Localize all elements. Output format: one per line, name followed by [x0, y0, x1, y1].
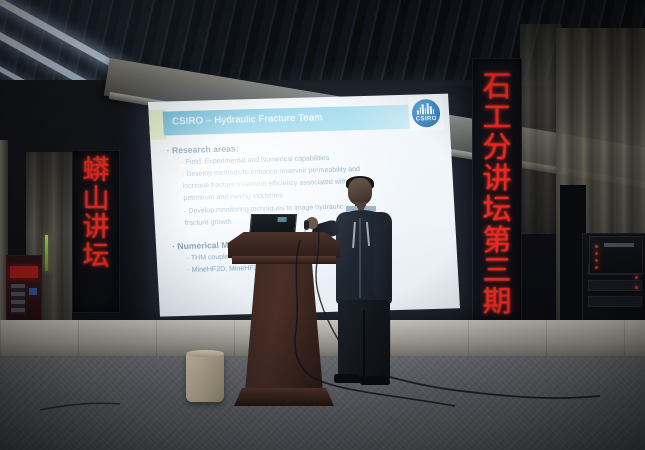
- banner-left-char-0: 蟒: [73, 157, 119, 186]
- podium-base: [234, 388, 334, 406]
- beige-hexagonal-stool: [186, 352, 224, 402]
- banner-right-char-5: 第: [473, 225, 521, 256]
- presenter-leg-seam: [363, 310, 365, 376]
- presenter-jacket-zipper: [359, 218, 361, 298]
- banner-right-char-2: 分: [473, 132, 521, 163]
- wooden-podium: [228, 232, 340, 412]
- banner-right-char-0: 石: [473, 71, 521, 102]
- rack-led-2: [635, 286, 638, 289]
- csiro-logo: CSIRO: [408, 96, 444, 131]
- vending-button-grid: [11, 284, 25, 314]
- amp-led-4: [595, 266, 598, 269]
- amp-led-2: [595, 252, 598, 255]
- amp-led-1: [595, 245, 598, 248]
- amplifier-display: [604, 243, 634, 247]
- csiro-logo-bars: [417, 103, 436, 114]
- banner-left-char-1: 山: [73, 186, 119, 215]
- laptop-screen-glow: [277, 217, 286, 222]
- microphone-capsule: [304, 220, 309, 230]
- csiro-logo-text: CSIRO: [412, 116, 440, 123]
- banner-right-char-6: 三: [473, 255, 521, 286]
- presenter-head: [348, 178, 372, 205]
- podium-lip: [232, 256, 336, 264]
- banner-right-char-3: 讲: [473, 163, 521, 194]
- slide-title-bar: CSIRO – Hydraulic Fracture Team: [163, 104, 422, 135]
- banner-left-char-2: 讲: [73, 214, 119, 243]
- vending-header-panel: [10, 266, 38, 278]
- banner-right-char-1: 工: [473, 102, 521, 133]
- amp-led-3: [595, 259, 598, 262]
- rack-led-1: [635, 276, 638, 279]
- banner-left-char-3: 坛: [73, 243, 119, 272]
- presenter-shoe-right: [360, 376, 390, 385]
- banner-right-char-4: 坛: [473, 194, 521, 225]
- right-red-banner: 石 工 分 讲 坛 第 三 期: [472, 58, 522, 362]
- rack-slot-2: [588, 280, 642, 291]
- podium-top-surface: [228, 232, 340, 258]
- banner-right-char-7: 期: [473, 286, 521, 317]
- stool-top-surface: [186, 350, 224, 357]
- vending-blue-panel: [29, 288, 37, 295]
- green-indicator-light: [45, 235, 48, 271]
- slide-title: CSIRO – Hydraulic Fracture Team: [172, 112, 323, 127]
- rack-slot-3: [588, 296, 642, 307]
- presenter-standing: [330, 178, 404, 393]
- audio-amplifier: [589, 236, 643, 274]
- csiro-logo-circle: CSIRO: [411, 99, 441, 128]
- presenter-arm-right: [374, 222, 391, 298]
- lecture-hall-photo: 蟒 山 讲 坛 石 工 分 讲 坛 第 三 期 CSIRO – Hydrauli…: [0, 0, 645, 450]
- podium-column: [245, 264, 323, 392]
- left-red-banner: 蟒 山 讲 坛: [72, 150, 120, 313]
